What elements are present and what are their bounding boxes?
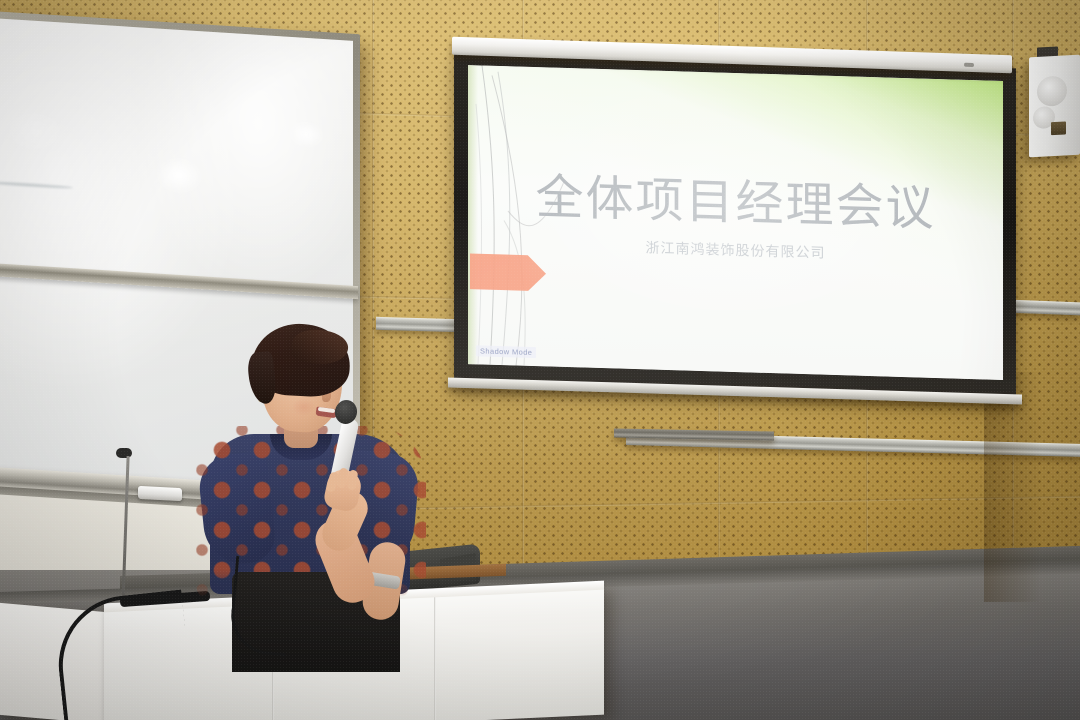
- whiteboard-eraser[interactable]: [138, 486, 182, 501]
- presenter-cheek: [292, 398, 316, 416]
- presenter: [196, 322, 436, 652]
- whiteboard-glare: [156, 157, 201, 194]
- projection-screen-surface: 全体项目经理会议 浙江南鸿装饰股份有限公司 Shadow Mode: [468, 65, 1003, 380]
- speaker-woofer: [1037, 75, 1067, 107]
- projection-screen[interactable]: 全体项目经理会议 浙江南鸿装饰股份有限公司 Shadow Mode: [454, 52, 1016, 403]
- whiteboard-glare: [5, 108, 65, 156]
- whiteboard-glare: [289, 121, 323, 148]
- screen-housing-knob: [964, 63, 974, 67]
- wall-corner-shadow: [984, 372, 1080, 602]
- whiteboard-smudge: [0, 181, 73, 190]
- slide-vignette: [468, 65, 1003, 380]
- wall-speaker: [1029, 55, 1080, 158]
- speaker-logo-plate: [1051, 121, 1066, 135]
- photo-scene: 全体项目经理会议 浙江南鸿装饰股份有限公司 Shadow Mode: [0, 0, 1080, 720]
- presenter-hair-side: [246, 351, 277, 405]
